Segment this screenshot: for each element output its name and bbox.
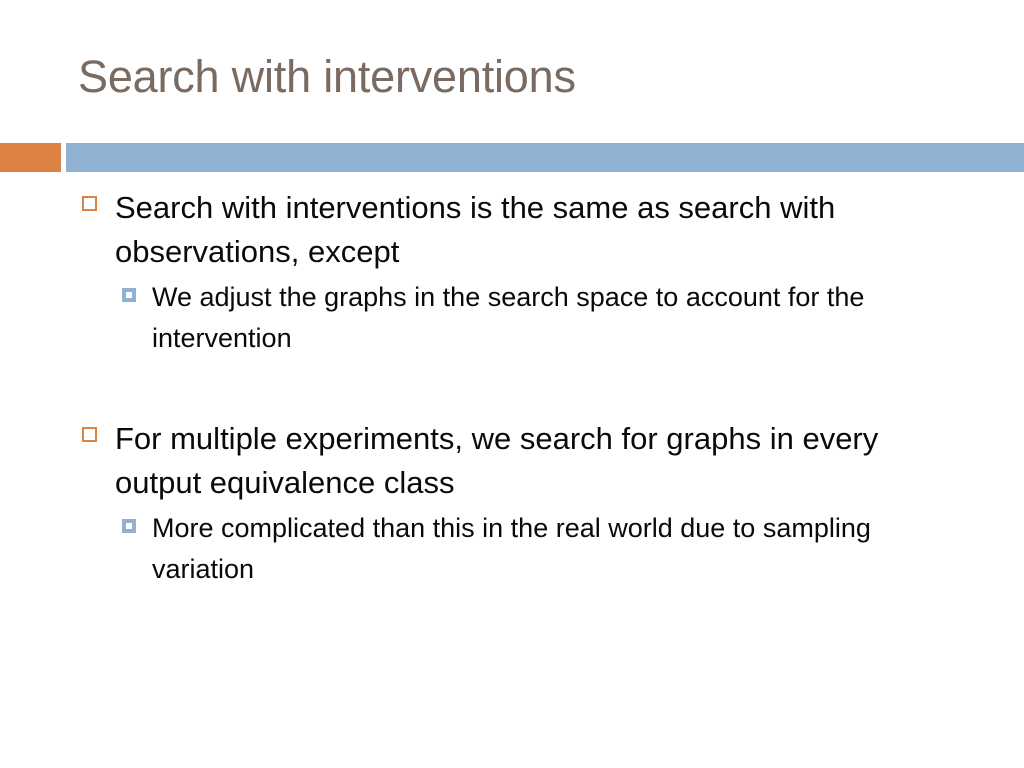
bullet-level1: For multiple experiments, we search for …	[0, 417, 1024, 505]
title-accent-bar	[0, 143, 1024, 172]
square-bullet-icon	[122, 519, 136, 533]
bullet-level2-text: We adjust the graphs in the search space…	[152, 282, 864, 353]
bullet-level1-text: Search with interventions is the same as…	[115, 190, 835, 269]
square-bullet-icon	[82, 196, 97, 211]
square-bullet-icon	[122, 288, 136, 302]
bullet-group-1: Search with interventions is the same as…	[0, 186, 1024, 359]
bullet-group-2: For multiple experiments, we search for …	[0, 417, 1024, 590]
page-title: Search with interventions	[78, 49, 978, 105]
bullet-level2-text: More complicated than this in the real w…	[152, 513, 871, 584]
slide: Search with interventions Search with in…	[0, 0, 1024, 768]
bullet-level2: We adjust the graphs in the search space…	[0, 277, 1024, 359]
bullet-level2: More complicated than this in the real w…	[0, 508, 1024, 590]
bullet-group-spacer	[0, 359, 1024, 417]
bullet-level1: Search with interventions is the same as…	[0, 186, 1024, 274]
square-bullet-icon	[82, 427, 97, 442]
accent-bar-orange	[0, 143, 61, 172]
slide-body: Search with interventions is the same as…	[0, 186, 1024, 590]
bullet-level1-text: For multiple experiments, we search for …	[115, 421, 878, 500]
accent-bar-blue	[66, 143, 1024, 172]
